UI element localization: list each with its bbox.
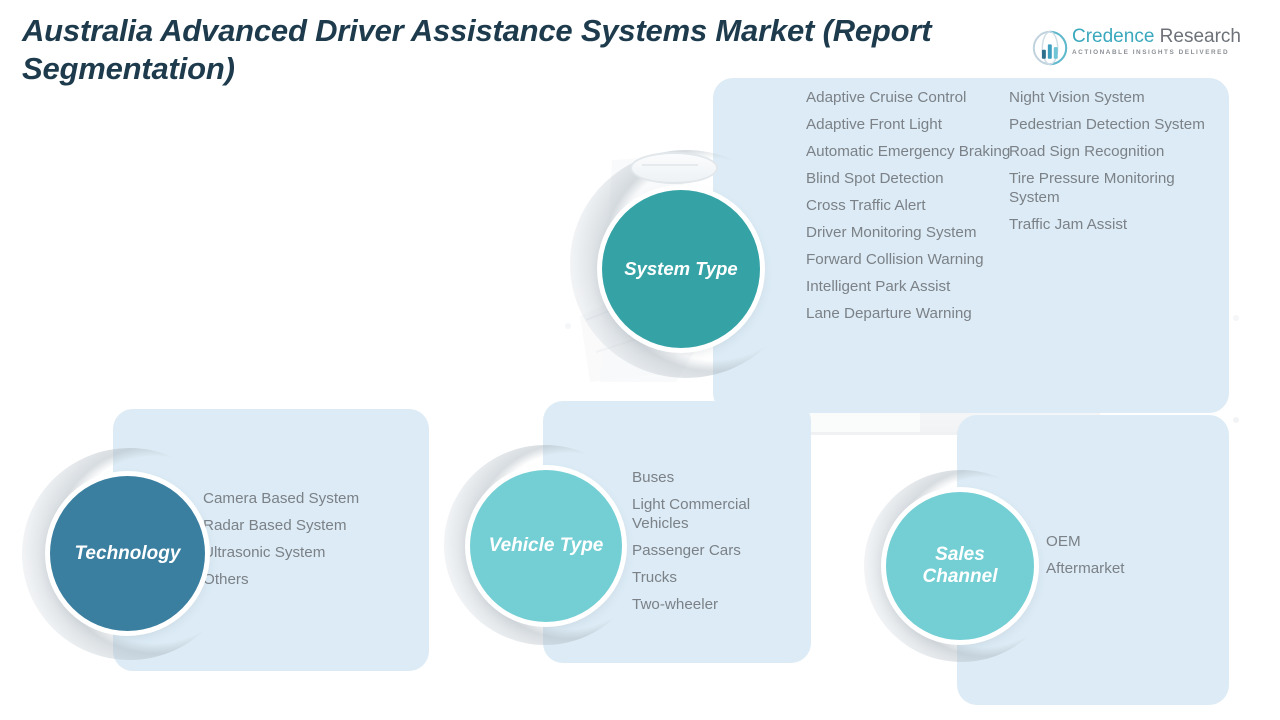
bubble-label-system-type: System Type: [602, 190, 760, 348]
bubble-label-vehicle-type: Vehicle Type: [470, 470, 622, 622]
bubble-cap-ellipse: [630, 152, 718, 184]
list-item: Tire Pressure Monitoring System: [1009, 169, 1224, 207]
list-item: Two-wheeler: [632, 595, 797, 614]
bubble-label-sales-channel-line2: Channel: [923, 566, 998, 587]
bubble-cap-line: [642, 164, 698, 166]
page-title: Australia Advanced Driver Assistance Sys…: [22, 12, 1142, 88]
logo-tagline: Actionable Insights Delivered: [1072, 48, 1256, 57]
list-item: Trucks: [632, 568, 797, 587]
bubble-technology[interactable]: Technology: [22, 448, 237, 660]
list-system-type-column-1: Adaptive Cruise Control Adaptive Front L…: [806, 88, 1011, 323]
brand-logo: Credence Research Actionable Insights De…: [1032, 26, 1254, 68]
list-item: Driver Monitoring System: [806, 223, 1011, 242]
list-item: Passenger Cars: [632, 541, 797, 560]
list-item: Automatic Emergency Braking: [806, 142, 1011, 161]
infographic-canvas: Australia Advanced Driver Assistance Sys…: [0, 0, 1280, 720]
credence-bar-chart-globe-icon: [1032, 30, 1068, 66]
list-item: Blind Spot Detection: [806, 169, 1011, 188]
logo-name-secondary: Research: [1154, 26, 1241, 47]
list-item: Adaptive Cruise Control: [806, 88, 1011, 107]
list-item: Forward Collision Warning: [806, 250, 1011, 269]
list-system-type-column-2: Night Vision System Pedestrian Detection…: [1009, 88, 1224, 234]
list-sales-channel: OEM Aftermarket: [1046, 532, 1216, 578]
list-item: Night Vision System: [1009, 88, 1224, 107]
bubble-label-sales-channel-line1: Sales: [935, 544, 985, 565]
list-item: Lane Departure Warning: [806, 304, 1011, 323]
bubble-label-technology: Technology: [50, 476, 205, 631]
bubble-vehicle-type[interactable]: Vehicle Type: [444, 445, 646, 645]
logo-name-primary: Credence: [1072, 26, 1154, 47]
list-item: Buses: [632, 468, 797, 487]
list-item: Cross Traffic Alert: [806, 196, 1011, 215]
bubble-sales-channel[interactable]: Sales Channel: [864, 470, 1059, 662]
list-item: Adaptive Front Light: [806, 115, 1011, 134]
bubble-system-type[interactable]: System Type: [570, 150, 802, 378]
list-item: Aftermarket: [1046, 559, 1216, 578]
list-item: Light Commercial Vehicles: [632, 495, 797, 533]
list-item: Intelligent Park Assist: [806, 277, 1011, 296]
list-vehicle-type: Buses Light Commercial Vehicles Passenge…: [632, 468, 797, 614]
list-item: Traffic Jam Assist: [1009, 215, 1224, 234]
list-item: Road Sign Recognition: [1009, 142, 1224, 161]
list-item: Pedestrian Detection System: [1009, 115, 1224, 134]
list-item: OEM: [1046, 532, 1216, 551]
